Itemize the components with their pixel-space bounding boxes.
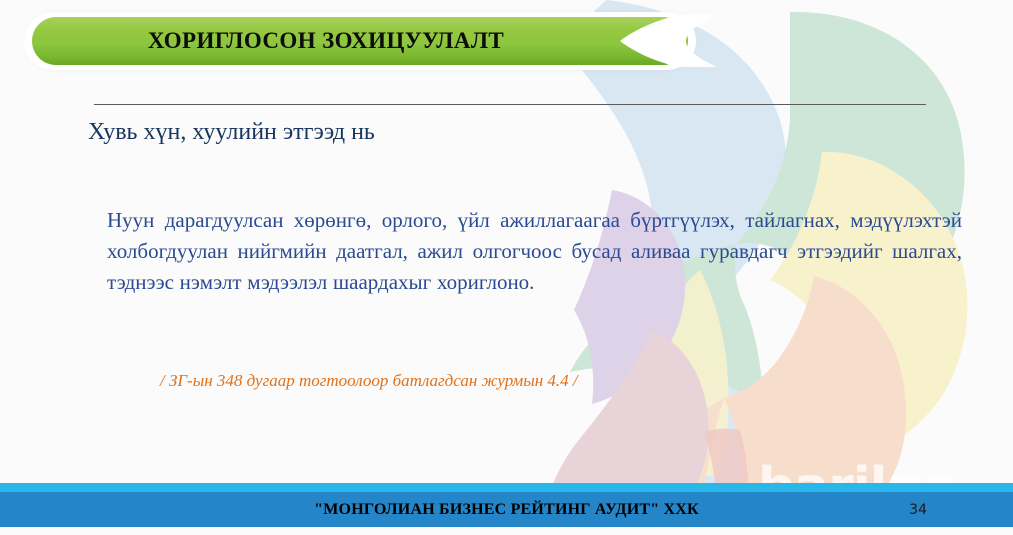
- footer-organization-name: "МОНГОЛИАН БИЗНЕС РЕЙТИНГ АУДИТ" ХХК: [0, 492, 1013, 527]
- petal-green-shape: [736, 12, 965, 366]
- body-paragraph: Нуун дарагдуулсан хөрөнгө, орлого, үйл а…: [107, 205, 962, 298]
- sub-heading: Хувь хүн, хуулийн этгээд нь: [88, 119, 375, 146]
- title-banner: ХОРИГЛОСОН ЗОХИЦУУЛАЛТ: [24, 8, 704, 74]
- header-divider-rule: [94, 104, 926, 105]
- slide-canvas: barilga.mn ХОРИГЛОСОН ЗОХИЦУУЛАЛТ Хувь х…: [0, 0, 1013, 535]
- footer-accent-strip: [0, 483, 1013, 492]
- petal-yellow-shape: [770, 152, 967, 462]
- footer-bottom-padding: [0, 527, 1013, 535]
- petal-yellow-sliver-shape: [671, 270, 729, 476]
- legal-citation: / ЗГ-ын 348 дугаар тогтоолоор батлагдсан…: [160, 371, 578, 391]
- page-number: 34: [909, 492, 927, 527]
- banner-title-text: ХОРИГЛОСОН ЗОХИЦУУЛАЛТ: [24, 17, 628, 65]
